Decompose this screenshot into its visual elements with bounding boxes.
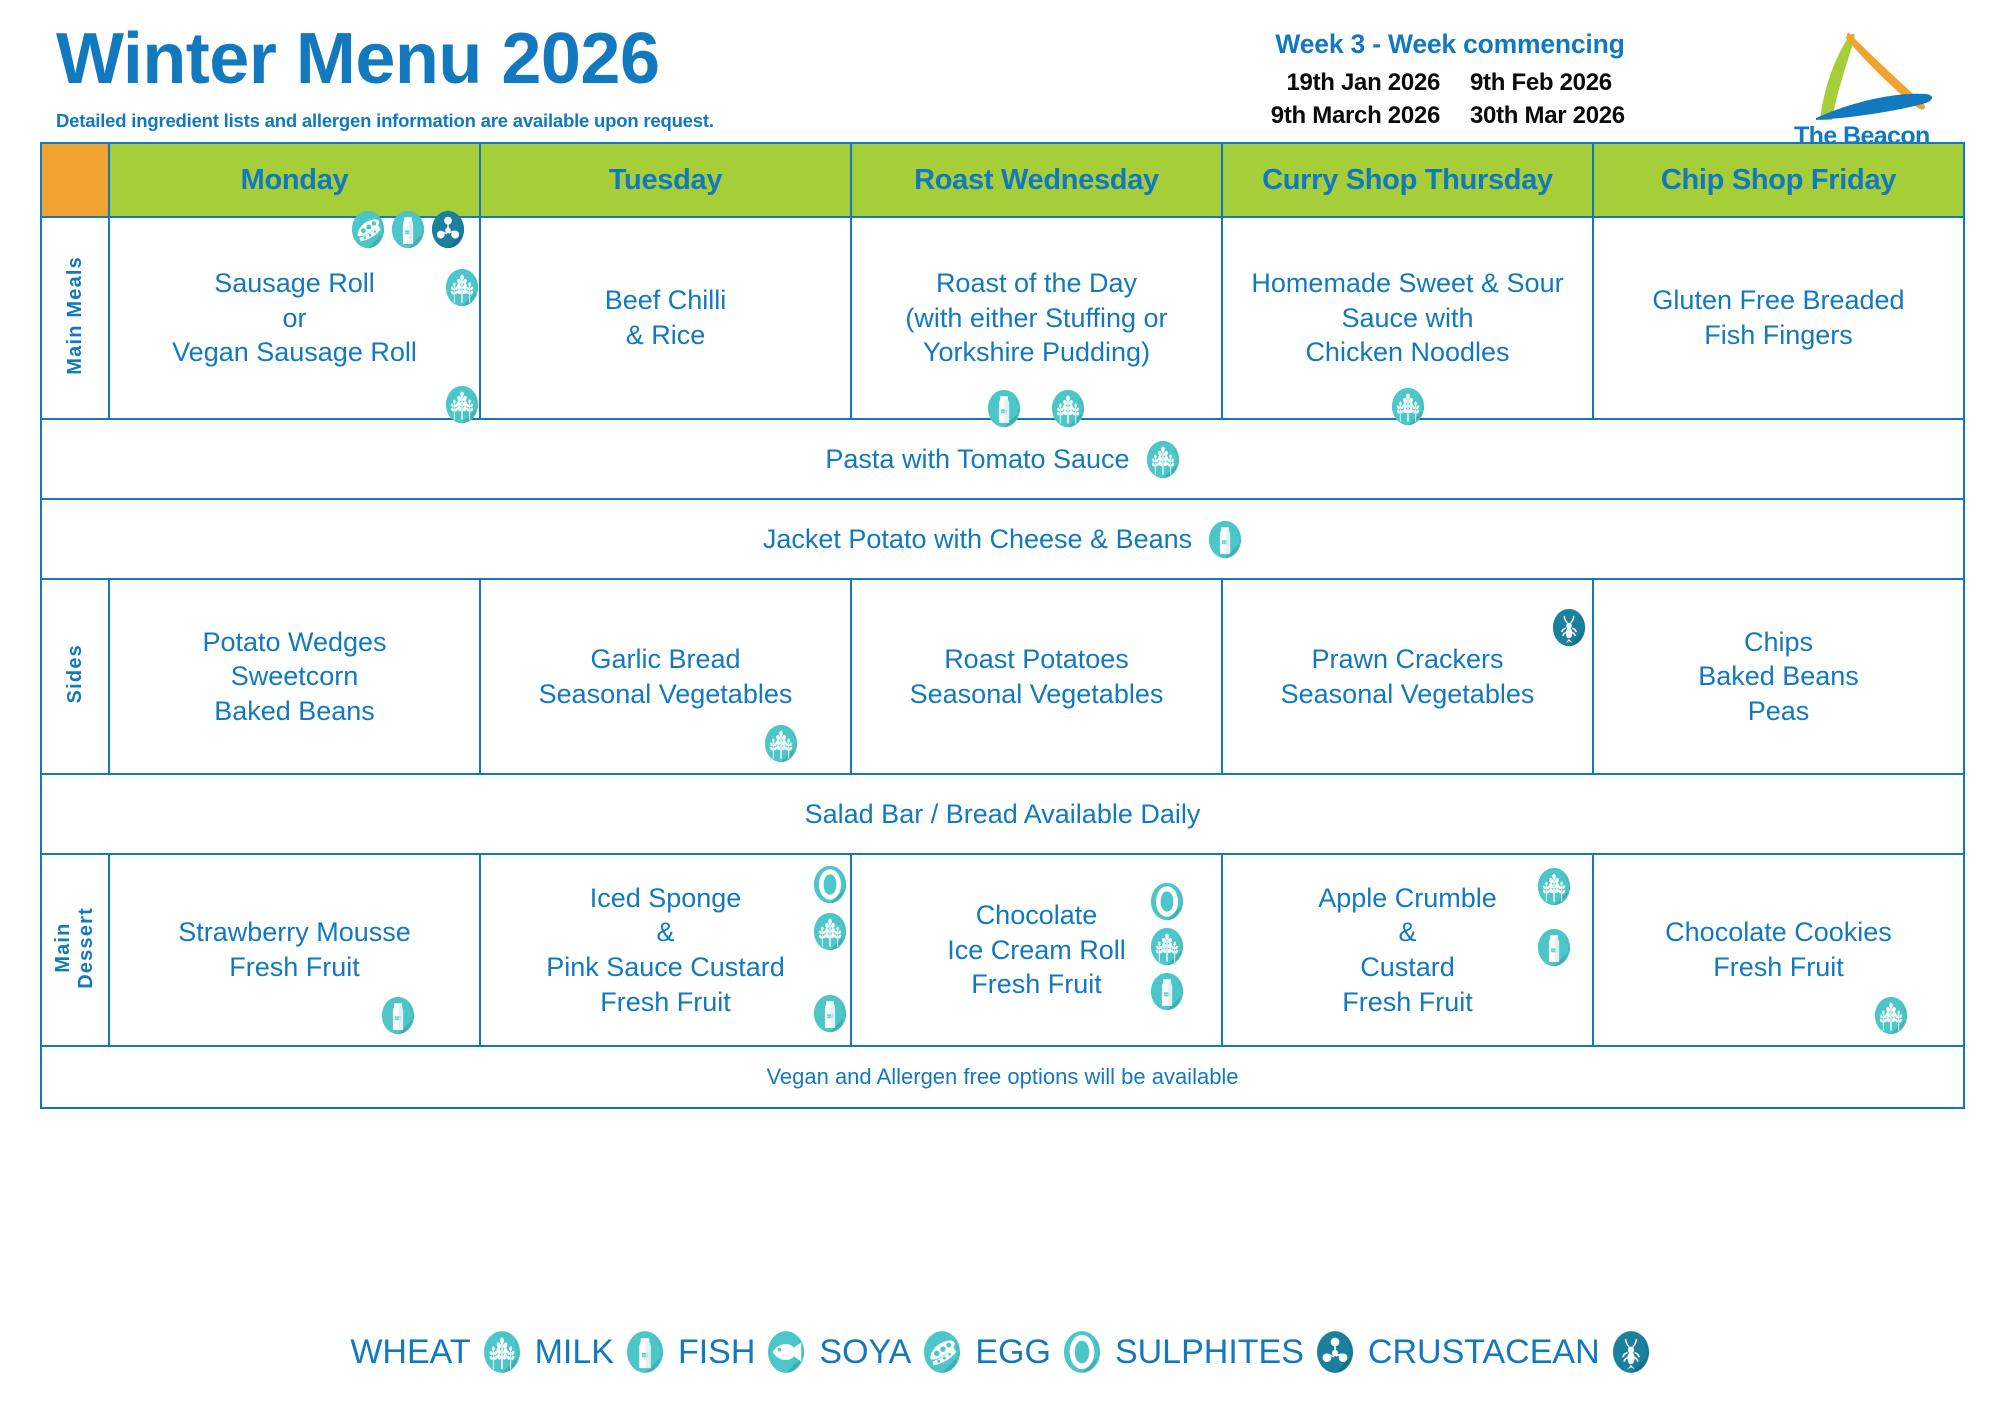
wheat-icon	[445, 385, 479, 424]
dish-line: Strawberry Mousse	[178, 915, 411, 950]
week-date: 19th Jan 2026	[1230, 69, 1440, 97]
milk-icon: MILK	[987, 389, 1021, 428]
week-date-row: 9th March 2026 30th Mar 2026	[1230, 102, 1670, 130]
dish-line: Garlic Bread	[539, 642, 793, 677]
legend-label: SOYA	[819, 1333, 911, 1372]
cell-dessert-monday: MILK Strawberry Mousse Fresh Fruit	[109, 854, 480, 1046]
salad-bar-row: Salad Bar / Bread Available Daily	[41, 774, 1964, 854]
dish-line: Seasonal Vegetables	[1281, 677, 1535, 712]
icon-group-bottom: MILK	[987, 389, 1085, 428]
vegan-note-row: Vegan and Allergen free options will be …	[41, 1046, 1964, 1108]
dish-line: Fish Fingers	[1652, 318, 1904, 353]
legend-label: MILK	[535, 1333, 614, 1372]
cell-sides-friday: Chips Baked Beans Peas	[1593, 579, 1964, 774]
dish-line: Roast Potatoes	[910, 642, 1164, 677]
week-date-row: 19th Jan 2026 9th Feb 2026	[1230, 69, 1670, 97]
week-heading: Week 3 - Week commencing	[1130, 28, 1770, 61]
beacon-logo-icon	[1802, 16, 1962, 131]
dish-line: Yorkshire Pudding)	[905, 335, 1167, 370]
allergen-request-note: Detailed ingredient lists and allergen i…	[56, 110, 714, 132]
dish-line: Fresh Fruit	[1318, 985, 1497, 1020]
cell-main-wednesday: MILK Roast of the Day (with either Stuff…	[851, 217, 1222, 419]
icon-group-right	[445, 268, 479, 307]
sulphites-icon	[1316, 1330, 1354, 1374]
wheat-icon	[1051, 389, 1085, 428]
dish-block: Prawn Crackers Seasonal Vegetables	[1281, 642, 1535, 711]
week-date: 9th Feb 2026	[1470, 69, 1670, 97]
dish-line: Chocolate Cookies	[1665, 915, 1892, 950]
cell-dessert-thursday: MILK Apple Crumble & Custard Fresh Fruit	[1222, 854, 1593, 1046]
dish-block: Roast Potatoes Seasonal Vegetables	[910, 642, 1164, 711]
wheat-icon	[1146, 440, 1180, 479]
cell-main-monday: MILK Sausage Roll or Vegan Sausage Roll	[109, 217, 480, 419]
icon-group-top: MILK	[351, 210, 465, 249]
dish-line: Seasonal Vegetables	[539, 677, 793, 712]
icon-group-bottom	[764, 724, 798, 763]
dish-line: Sweetcorn	[202, 659, 386, 694]
row-label-main-dessert: Main Dessert	[41, 854, 109, 1046]
cell-main-tuesday: Beef Chilli & Rice	[480, 217, 851, 419]
jacket-potato-row: Jacket Potato with Cheese & Beans MILK	[41, 499, 1964, 579]
cell-sides-tuesday: Garlic Bread Seasonal Vegetables	[480, 579, 851, 774]
cell-sides-monday: Potato Wedges Sweetcorn Baked Beans	[109, 579, 480, 774]
dish-line: Gluten Free Breaded	[1652, 283, 1904, 318]
dish-line: Homemade Sweet & Sour	[1251, 266, 1563, 301]
dish-line: Fresh Fruit	[1665, 950, 1892, 985]
dish-line: Chicken Noodles	[1251, 335, 1563, 370]
dish-line: Vegan Sausage Roll	[172, 335, 417, 370]
week-date: 30th Mar 2026	[1470, 102, 1670, 130]
wheat-icon	[1391, 387, 1425, 426]
egg-icon	[1063, 1330, 1101, 1374]
cell-main-friday: Gluten Free Breaded Fish Fingers	[1593, 217, 1964, 419]
dish-block: Homemade Sweet & Sour Sauce with Chicken…	[1251, 266, 1563, 370]
dish-block: Gluten Free Breaded Fish Fingers	[1652, 283, 1904, 352]
dish-block: Beef Chilli & Rice	[605, 283, 727, 352]
icon-group-right	[1552, 608, 1586, 647]
dish-block: Chocolate Cookies Fresh Fruit	[1665, 915, 1892, 984]
dish-line: &	[546, 915, 785, 950]
milk-icon: MILK	[1537, 928, 1571, 967]
day-header-thursday: Curry Shop Thursday	[1222, 143, 1593, 217]
dish-line: Ice Cream Roll	[947, 933, 1126, 968]
dish-block: MILK Strawberry Mousse Fresh Fruit	[178, 915, 411, 984]
week-block: Week 3 - Week commencing 19th Jan 2026 9…	[1130, 28, 1770, 130]
icon-group-bottom	[445, 385, 479, 424]
week-date: 9th March 2026	[1230, 102, 1440, 130]
dish-line: Sausage Roll	[172, 266, 417, 301]
cell-vegan-note: Vegan and Allergen free options will be …	[41, 1046, 1964, 1108]
icon-group-bottom	[1391, 387, 1425, 426]
icon-group-bottom: MILK	[381, 996, 415, 1035]
milk-icon: MILK	[1150, 972, 1184, 1011]
dish-block: Chips Baked Beans Peas	[1698, 625, 1859, 729]
milk-icon: MILK	[391, 210, 425, 249]
dish-line: Potato Wedges	[202, 625, 386, 660]
cell-jacket-potato: Jacket Potato with Cheese & Beans MILK	[41, 499, 1964, 579]
sides-row: Sides Potato Wedges Sweetcorn Baked Bean…	[41, 579, 1964, 774]
title-block: Winter Menu 2026 Detailed ingredient lis…	[56, 22, 714, 132]
dish-block: MILK Sausage Roll or Vegan Sausage Roll	[172, 266, 417, 370]
wheat-icon	[1874, 996, 1908, 1035]
dish-block: MILK Chocolate Ice Cream Roll Fresh Frui…	[947, 898, 1126, 1002]
row-label-main-meals: Main Meals	[41, 217, 109, 419]
dish-line: Beef Chilli	[605, 283, 727, 318]
day-header-wednesday: Roast Wednesday	[851, 143, 1222, 217]
dish-line: (with either Stuffing or	[905, 301, 1167, 336]
row-label-text: Main Meals	[64, 256, 87, 375]
wheat-icon	[445, 268, 479, 307]
row-label-sides: Sides	[41, 579, 109, 774]
wheat-icon	[1150, 927, 1184, 966]
dish-line: Baked Beans	[202, 694, 386, 729]
legend-item: SULPHITES	[1115, 1330, 1354, 1374]
row-label-text: Main Dessert	[52, 907, 98, 989]
cell-salad-bar: Salad Bar / Bread Available Daily	[41, 774, 1964, 854]
dish-line: Seasonal Vegetables	[910, 677, 1164, 712]
dish-block: Garlic Bread Seasonal Vegetables	[539, 642, 793, 711]
dish-line: Fresh Fruit	[947, 967, 1126, 1002]
dish-line: Fresh Fruit	[178, 950, 411, 985]
dish-line: Roast of the Day	[905, 266, 1167, 301]
cell-main-thursday: Homemade Sweet & Sour Sauce with Chicken…	[1222, 217, 1593, 419]
legend-item: EGG	[975, 1330, 1101, 1374]
page-title: Winter Menu 2026	[56, 22, 714, 98]
egg-icon	[813, 865, 847, 904]
dish-line: Fresh Fruit	[546, 985, 785, 1020]
day-header-tuesday: Tuesday	[480, 143, 851, 217]
legend-item: FISH	[678, 1330, 805, 1374]
dish-line: or	[172, 301, 417, 336]
dish-line: Custard	[1318, 950, 1497, 985]
legend-label: FISH	[678, 1333, 755, 1372]
dish-line: Baked Beans	[1698, 659, 1859, 694]
milk-icon: MILK	[626, 1330, 664, 1374]
dish-line: Chips	[1698, 625, 1859, 660]
allergen-legend: WHEAT MILK MILK FISH SOYA EGG SULPHITES …	[0, 1330, 2000, 1374]
milk-icon: MILK	[1208, 520, 1242, 559]
dish-line: Prawn Crackers	[1281, 642, 1535, 677]
cell-dessert-wednesday: MILK Chocolate Ice Cream Roll Fresh Frui…	[851, 854, 1222, 1046]
egg-icon	[1150, 882, 1184, 921]
pasta-row: Pasta with Tomato Sauce	[41, 419, 1964, 499]
cell-dessert-tuesday: MILK Iced Sponge & Pink Sauce Custard Fr…	[480, 854, 851, 1046]
cell-sides-wednesday: Roast Potatoes Seasonal Vegetables	[851, 579, 1222, 774]
weekly-menu-table: Monday Tuesday Roast Wednesday Curry Sho…	[40, 142, 1965, 1109]
dish-line: &	[1318, 915, 1497, 950]
wheat-icon	[764, 724, 798, 763]
dish-line: Apple Crumble	[1318, 881, 1497, 916]
sulphites-icon	[431, 210, 465, 249]
dish-block: MILK Iced Sponge & Pink Sauce Custard Fr…	[546, 881, 785, 1019]
icon-group-bottom	[1874, 996, 1908, 1035]
milk-icon: MILK	[813, 994, 847, 1033]
table-header-row: Monday Tuesday Roast Wednesday Curry Sho…	[41, 143, 1964, 217]
wheat-icon	[813, 912, 847, 951]
row-label-text: Sides	[64, 644, 87, 703]
crustacean-icon	[1612, 1330, 1650, 1374]
week-dates-list: 19th Jan 2026 9th Feb 2026 9th March 202…	[1130, 69, 1770, 130]
milk-icon: MILK	[381, 996, 415, 1035]
legend-item: WHEAT	[350, 1330, 520, 1374]
icon-group-right: MILK	[1537, 867, 1571, 967]
dish-line: Pink Sauce Custard	[546, 950, 785, 985]
legend-item: CRUSTACEAN	[1368, 1330, 1650, 1374]
main-meals-row: Main Meals MILK Sausage Roll	[41, 217, 1964, 419]
wheat-icon	[1537, 867, 1571, 906]
legend-item: MILK MILK	[535, 1330, 664, 1374]
cell-pasta: Pasta with Tomato Sauce	[41, 419, 1964, 499]
table-corner-cell	[41, 143, 109, 217]
dish-line: & Rice	[605, 318, 727, 353]
dish-block: Salad Bar / Bread Available Daily	[805, 799, 1201, 830]
legend-label: SULPHITES	[1115, 1333, 1304, 1372]
cell-sides-thursday: Prawn Crackers Seasonal Vegetables	[1222, 579, 1593, 774]
legend-label: EGG	[975, 1333, 1051, 1372]
dish-block: Pasta with Tomato Sauce	[825, 440, 1179, 479]
icon-group-right: MILK	[1150, 882, 1184, 1011]
day-header-friday: Chip Shop Friday	[1593, 143, 1964, 217]
dish-line: Iced Sponge	[546, 881, 785, 916]
dish-line: Jacket Potato with Cheese & Beans	[763, 524, 1192, 555]
dish-block: MILK Apple Crumble & Custard Fresh Fruit	[1318, 881, 1497, 1019]
legend-item: SOYA	[819, 1330, 961, 1374]
dish-block: Potato Wedges Sweetcorn Baked Beans	[202, 625, 386, 729]
crustacean-icon	[1552, 608, 1586, 647]
wheat-icon	[483, 1330, 521, 1374]
soya-icon	[923, 1330, 961, 1374]
dish-line: Peas	[1698, 694, 1859, 729]
day-header-monday: Monday	[109, 143, 480, 217]
legend-label: WHEAT	[350, 1333, 470, 1372]
dish-line: Pasta with Tomato Sauce	[825, 444, 1129, 475]
icon-group-bottom: MILK	[813, 994, 847, 1033]
dish-line: Sauce with	[1251, 301, 1563, 336]
dessert-row: Main Dessert MILK Strawberry Mousse Fres…	[41, 854, 1964, 1046]
soya-icon	[351, 210, 385, 249]
dish-line: Chocolate	[947, 898, 1126, 933]
icon-group-right	[813, 865, 847, 951]
dish-block: Jacket Potato with Cheese & Beans MILK	[763, 520, 1242, 559]
legend-label: CRUSTACEAN	[1368, 1333, 1600, 1372]
dish-block: MILK Roast of the Day (with either Stuff…	[905, 266, 1167, 370]
fish-icon	[767, 1330, 805, 1374]
dish-line: Salad Bar / Bread Available Daily	[805, 799, 1201, 830]
cell-dessert-friday: Chocolate Cookies Fresh Fruit	[1593, 854, 1964, 1046]
